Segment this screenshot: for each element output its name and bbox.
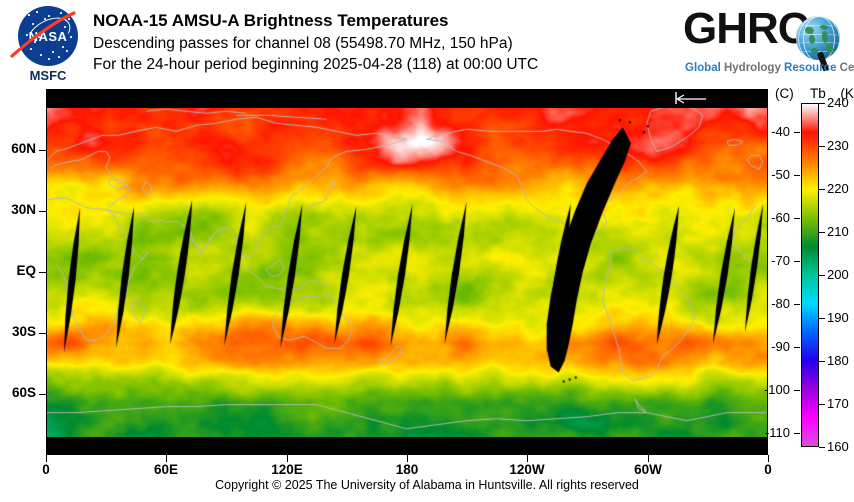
colorbar-kelvin-label: 220 bbox=[827, 181, 849, 196]
colorbar-kelvin-tick bbox=[819, 404, 825, 405]
map-plot bbox=[46, 89, 768, 455]
colorbar-celsius-label: -110 bbox=[746, 425, 790, 440]
colorbar-celsius-label: -40 bbox=[746, 124, 790, 139]
y-tick-label: 60N bbox=[0, 141, 36, 156]
page-title: NOAA-15 AMSU-A Brightness Temperatures bbox=[93, 10, 673, 31]
colorbar-kelvin-label: 170 bbox=[827, 396, 849, 411]
nasa-center-label: MSFC bbox=[12, 68, 84, 83]
colorbar-kelvin-tick bbox=[819, 232, 825, 233]
colorbar-celsius-tick bbox=[794, 304, 800, 305]
colorbar-kelvin-label: 160 bbox=[827, 439, 849, 454]
colorbar-celsius-label: -80 bbox=[746, 296, 790, 311]
plot-border bbox=[46, 89, 768, 455]
x-tick bbox=[407, 455, 408, 462]
ghrc-tagline-w1: Global bbox=[685, 62, 724, 74]
colorbar-kelvin-tick bbox=[819, 146, 825, 147]
screenshot-root: NASA MSFC NOAA-15 AMSU-A Brightness Temp… bbox=[0, 0, 854, 502]
nasa-swoosh-icon bbox=[10, 10, 76, 62]
nasa-logo: NASA MSFC bbox=[12, 6, 84, 84]
x-tick bbox=[527, 455, 528, 462]
colorbar-kelvin-label: 190 bbox=[827, 310, 849, 325]
x-tick bbox=[648, 455, 649, 462]
ghrc-tagline-w4: Center bbox=[840, 62, 854, 74]
colorbar-celsius-tick bbox=[794, 390, 800, 391]
x-tick-label: 60E bbox=[136, 462, 196, 477]
copyright-notice: Copyright © 2025 The University of Alaba… bbox=[0, 478, 854, 492]
colorbar-celsius-label: -60 bbox=[746, 210, 790, 225]
colorbar-kelvin-label: 200 bbox=[827, 267, 849, 282]
ghrc-wordmark: GHRC bbox=[683, 4, 809, 54]
y-tick bbox=[39, 272, 46, 273]
x-tick bbox=[287, 455, 288, 462]
colorbar-kelvin-label: 240 bbox=[827, 95, 849, 110]
colorbar-kelvin-label: 230 bbox=[827, 138, 849, 153]
ghrc-tagline-w3: Resource bbox=[784, 62, 840, 74]
colorbar-celsius-label: -90 bbox=[746, 339, 790, 354]
y-tick-label: EQ bbox=[0, 263, 36, 278]
colorbar-celsius-label: -70 bbox=[746, 253, 790, 268]
y-tick-label: 30N bbox=[0, 202, 36, 217]
ghrc-tagline-w2: Hydrology bbox=[724, 62, 784, 74]
title-block: NOAA-15 AMSU-A Brightness Temperatures D… bbox=[93, 10, 673, 75]
colorbar-celsius-tick bbox=[794, 347, 800, 348]
y-tick bbox=[39, 150, 46, 151]
subtitle-period: For the 24-hour period beginning 2025-04… bbox=[93, 54, 673, 75]
subtitle-channel: Descending passes for channel 08 (55498.… bbox=[93, 33, 673, 54]
x-tick-label: 120W bbox=[497, 462, 557, 477]
x-tick bbox=[768, 455, 769, 462]
y-tick bbox=[39, 333, 46, 334]
y-tick-label: 60S bbox=[0, 385, 36, 400]
colorbar-kelvin-tick bbox=[819, 189, 825, 190]
ghrc-tagline: Global Hydrology Resource Center bbox=[685, 62, 854, 74]
colorbar-kelvin-label: 180 bbox=[827, 353, 849, 368]
colorbar-celsius-tick bbox=[794, 261, 800, 262]
colorbar-celsius-tick bbox=[794, 433, 800, 434]
colorbar-celsius-tick bbox=[794, 132, 800, 133]
x-tick-label: 0 bbox=[738, 462, 798, 477]
colorbar-celsius-tick bbox=[794, 218, 800, 219]
ghrc-logo: GHRC Global Hydrology Resource Center bbox=[683, 8, 849, 80]
colorbar-celsius-label: -100 bbox=[746, 382, 790, 397]
x-tick-label: 0 bbox=[16, 462, 76, 477]
colorbar-kelvin-label: 210 bbox=[827, 224, 849, 239]
colorbar-gradient bbox=[802, 104, 818, 446]
colorbar-kelvin-tick bbox=[819, 275, 825, 276]
x-tick bbox=[46, 455, 47, 462]
colorbar bbox=[801, 103, 819, 447]
colorbar-kelvin-tick bbox=[819, 361, 825, 362]
colorbar-kelvin-tick bbox=[819, 318, 825, 319]
y-tick-label: 30S bbox=[0, 324, 36, 339]
colorbar-celsius-label: -50 bbox=[746, 167, 790, 182]
y-tick bbox=[39, 211, 46, 212]
x-tick-label: 120E bbox=[257, 462, 317, 477]
x-tick-label: 60W bbox=[618, 462, 678, 477]
colorbar-unit-celsius: (C) bbox=[775, 86, 794, 101]
colorbar-kelvin-tick bbox=[819, 447, 825, 448]
x-tick bbox=[166, 455, 167, 462]
colorbar-kelvin-tick bbox=[819, 103, 825, 104]
y-tick bbox=[39, 394, 46, 395]
colorbar-variable-label: Tb bbox=[810, 86, 826, 101]
colorbar-celsius-tick bbox=[794, 175, 800, 176]
x-tick-label: 180 bbox=[377, 462, 437, 477]
